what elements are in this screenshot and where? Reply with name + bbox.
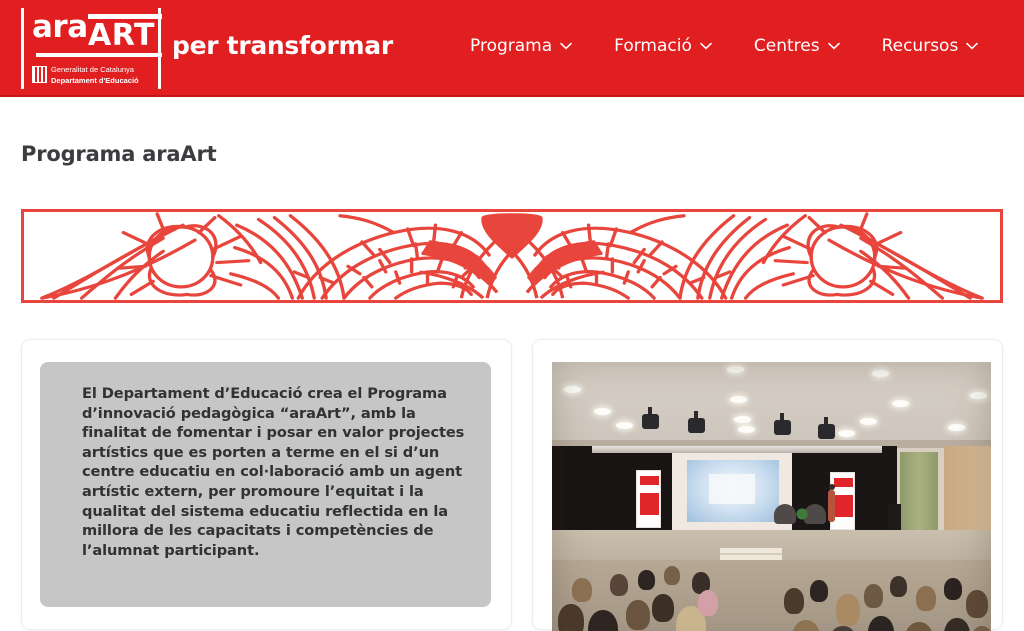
logo-text-ara: ara [32,12,88,42]
ornamental-border-banner [21,209,1003,303]
ceiling-light-icon [727,366,744,373]
chevron-down-icon [560,42,572,50]
intro-paragraph: El Departament d’Educació crea el Progra… [82,384,471,560]
stage-spotlight-icon [774,420,791,435]
ceiling-light-icon [948,424,965,431]
ceiling-light-icon [970,392,987,399]
photo-projection-screen [687,460,779,522]
ornament-artwork [24,212,1000,300]
ceiling-light-icon [564,386,581,393]
intro-card: El Departament d’Educació crea el Progra… [21,339,512,630]
logo-rule-bottom [36,53,162,57]
nav-label-recursos: Recursos [882,36,959,56]
photo-card [532,339,1003,630]
nav-item-formacio[interactable]: Formació [614,36,712,56]
photo-presenter [828,490,835,522]
ceiling-light-icon [734,416,751,423]
ceiling-light-icon [616,422,633,429]
ceiling-light-icon [838,430,855,437]
stage-spotlight-icon [688,418,705,433]
stage-spotlight-icon [818,424,835,439]
chevron-down-icon [966,42,978,50]
ceiling-light-icon [860,418,877,425]
nav-item-programa[interactable]: Programa [470,36,572,56]
chevron-down-icon [700,42,712,50]
nav-label-centres: Centres [754,36,820,56]
nav-label-formacio: Formació [614,36,692,56]
logo-wordmark: ara ART [32,12,152,60]
page-title: Programa araArt [21,142,216,166]
intro-text-box: El Departament d’Educació crea el Progra… [40,362,491,607]
ceiling-light-icon [738,426,755,433]
ceiling-light-icon [892,400,909,407]
main-navigation: Programa Formació Centres Recursos [470,36,978,56]
generalitat-text: Generalitat de Catalunya Departament d'E… [51,63,139,85]
nav-label-programa: Programa [470,36,552,56]
ceiling-light-icon [872,370,889,377]
photo-green-curtain [900,452,938,536]
photo-plant [792,502,812,522]
catalan-flag-icon [32,66,47,83]
nav-item-recursos[interactable]: Recursos [882,36,979,56]
photo-lighting-truss [592,446,882,453]
site-header: ara ART Generalitat de Catalunya Departa… [0,0,1024,97]
araart-logo[interactable]: ara ART Generalitat de Catalunya Departa… [21,8,161,89]
stage-spotlight-icon [642,414,659,429]
auditorium-photo [552,362,991,631]
photo-scene [552,362,991,631]
generalitat-line1: Generalitat de Catalunya [51,65,134,74]
ceiling-light-icon [730,396,747,403]
logo-text-art: ART [88,21,155,51]
ceiling-light-icon [594,408,611,415]
photo-rollup-banner [636,470,661,528]
photo-ceiling [552,362,991,444]
generalitat-line2: Departament d'Educació [51,76,139,85]
header-tagline: per transformar [172,31,393,60]
photo-audience [552,560,991,631]
generalitat-logo: Generalitat de Catalunya Departament d'E… [32,63,152,85]
photo-wood-wall [944,446,991,538]
nav-item-centres[interactable]: Centres [754,36,840,56]
chevron-down-icon [828,42,840,50]
photo-projection-content [709,474,755,504]
